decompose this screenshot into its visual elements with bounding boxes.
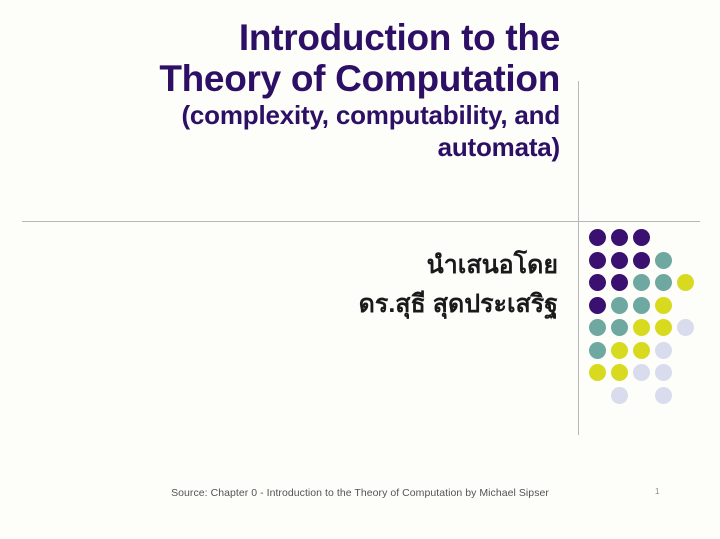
grid-dot xyxy=(589,297,606,314)
grid-dot xyxy=(589,274,606,291)
grid-dot xyxy=(589,229,606,246)
grid-dot xyxy=(611,274,628,291)
grid-dot xyxy=(633,229,650,246)
grid-dot xyxy=(677,274,694,291)
grid-dot xyxy=(589,252,606,269)
grid-dot xyxy=(655,319,672,336)
presenter-name: ดร.สุธี สุดประเสริฐ xyxy=(60,285,558,324)
footer-page-number: 1 xyxy=(655,487,659,496)
title-line-1: Introduction to the xyxy=(30,18,560,58)
grid-dot xyxy=(655,387,672,404)
grid-dot xyxy=(655,297,672,314)
grid-dot xyxy=(655,274,672,291)
grid-dot xyxy=(633,252,650,269)
grid-dot xyxy=(589,342,606,359)
subtitle-line-1: (complexity, computability, and xyxy=(30,101,560,130)
vertical-divider xyxy=(578,81,579,435)
grid-dot xyxy=(611,297,628,314)
grid-dot xyxy=(611,319,628,336)
grid-dot xyxy=(611,364,628,381)
footer-source-text: Source: Chapter 0 - Introduction to the … xyxy=(0,487,720,499)
horizontal-divider xyxy=(22,221,700,222)
grid-dot xyxy=(611,252,628,269)
grid-dot xyxy=(611,387,628,404)
presenter-label: นำเสนอโดย xyxy=(60,246,558,285)
grid-dot xyxy=(611,229,628,246)
presenter-block: นำเสนอโดย ดร.สุธี สุดประเสริฐ xyxy=(60,246,558,324)
grid-dot xyxy=(633,297,650,314)
grid-dot xyxy=(655,342,672,359)
grid-dot xyxy=(633,274,650,291)
grid-dot xyxy=(633,342,650,359)
slide-title-block: Introduction to the Theory of Computatio… xyxy=(30,18,560,162)
grid-dot xyxy=(655,364,672,381)
grid-dot xyxy=(655,252,672,269)
grid-dot xyxy=(589,319,606,336)
grid-dot xyxy=(677,319,694,336)
subtitle-line-2: automata) xyxy=(30,133,560,162)
grid-dot xyxy=(589,364,606,381)
title-line-2: Theory of Computation xyxy=(30,59,560,99)
grid-dot xyxy=(633,319,650,336)
grid-dot xyxy=(633,364,650,381)
grid-dot xyxy=(611,342,628,359)
decorative-dot-grid xyxy=(589,229,704,417)
presentation-slide: Introduction to the Theory of Computatio… xyxy=(0,0,720,539)
